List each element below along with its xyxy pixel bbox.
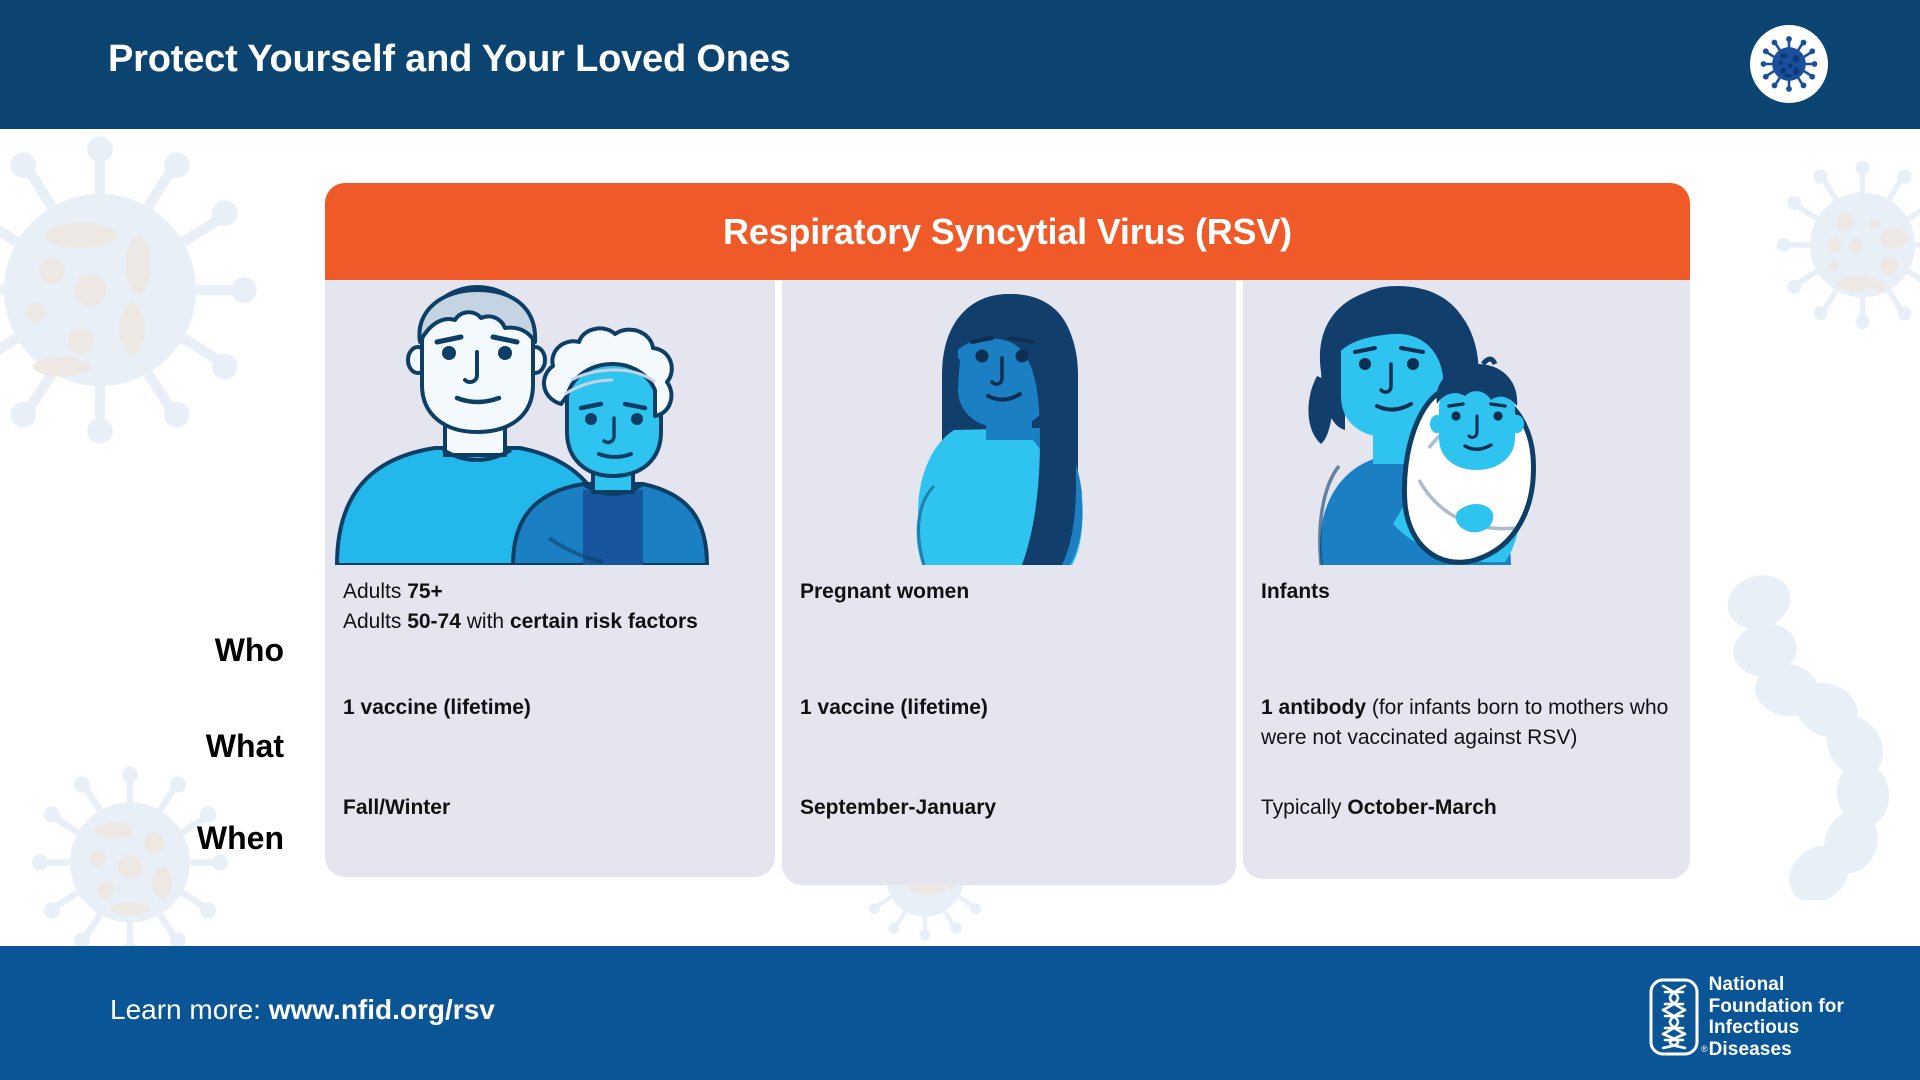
virus-watermark-icon xyxy=(1775,155,1920,335)
who-line-1: Pregnant women xyxy=(800,577,1218,607)
cell-what: 1 vaccine (lifetime) xyxy=(343,663,757,759)
column-pregnant-women: Pregnant women 1 vaccine (lifetime) Sept… xyxy=(782,280,1236,885)
cell-who: Adults 75+ Adults 50-74 with certain ris… xyxy=(343,565,757,663)
column-infants: Infants 1 antibody (for infants born to … xyxy=(1243,280,1690,879)
column-older-adults: Adults 75+ Adults 50-74 with certain ris… xyxy=(325,280,775,877)
older-couple-illustration xyxy=(325,280,775,565)
when-strong: September-January xyxy=(800,796,996,819)
when-strong: Fall/Winter xyxy=(343,796,450,819)
who-line-1: Infants xyxy=(1261,577,1672,607)
card-title: Respiratory Syncytial Virus (RSV) xyxy=(723,211,1292,253)
who-strong: Infants xyxy=(1261,580,1330,603)
pregnant-woman-illustration xyxy=(782,280,1236,565)
when-text: Typically October-March xyxy=(1261,793,1672,823)
column-2-rows: Pregnant women 1 vaccine (lifetime) Sept… xyxy=(782,565,1236,885)
nfid-logo: ® National Foundation for Infectious Dis… xyxy=(1649,974,1844,1061)
who-line2-strong: 50-74 xyxy=(407,610,461,633)
nfid-line-1: National xyxy=(1709,974,1844,996)
cell-when: Typically October-March xyxy=(1261,759,1672,855)
bacteria-chain-icon xyxy=(1715,570,1915,900)
virus-watermark-icon xyxy=(30,760,230,965)
cell-who: Infants xyxy=(1261,565,1672,663)
nfid-line-3: Infectious xyxy=(1709,1017,1844,1039)
when-text: September-January xyxy=(800,793,1218,823)
header-virus-logo xyxy=(1750,25,1828,103)
when-prefix: Typically xyxy=(1261,796,1347,819)
who-line-2: Adults 50-74 with certain risk factors xyxy=(343,607,757,637)
column-3-rows: Infants 1 antibody (for infants born to … xyxy=(1243,565,1690,879)
who-strong: Pregnant women xyxy=(800,580,969,603)
row-label-what: What xyxy=(206,728,284,765)
what-text: 1 vaccine (lifetime) xyxy=(343,693,757,723)
column-1-rows: Adults 75+ Adults 50-74 with certain ris… xyxy=(325,565,775,877)
who-strong: 75+ xyxy=(407,580,443,603)
dna-helix-icon: ® xyxy=(1649,978,1699,1056)
who-line-1: Adults 75+ xyxy=(343,577,757,607)
card-header-bar: Respiratory Syncytial Virus (RSV) xyxy=(325,183,1690,280)
row-label-who: Who xyxy=(215,632,284,669)
when-text: Fall/Winter xyxy=(343,793,757,823)
cell-who: Pregnant women xyxy=(800,565,1218,663)
who-line2-mid: with xyxy=(461,610,510,633)
virus-icon xyxy=(1760,35,1818,93)
nfid-line-2: Foundation for xyxy=(1709,996,1844,1018)
who-prefix: Adults xyxy=(343,580,407,603)
nfid-logo-text: National Foundation for Infectious Disea… xyxy=(1709,974,1844,1061)
mother-and-infant-illustration xyxy=(1243,280,1690,565)
rsv-card: Respiratory Syncytial Virus (RSV) xyxy=(325,183,1690,885)
card-columns: Adults 75+ Adults 50-74 with certain ris… xyxy=(325,280,1690,885)
page-footer: Learn more: www.nfid.org/rsv xyxy=(0,946,1920,1080)
row-label-when: When xyxy=(197,820,284,857)
who-line2-prefix: Adults xyxy=(343,610,407,633)
cell-when: September-January xyxy=(800,759,1218,855)
page-title: Protect Yourself and Your Loved Ones xyxy=(108,38,791,81)
cell-when: Fall/Winter xyxy=(343,759,757,855)
what-text: 1 vaccine (lifetime) xyxy=(800,693,1218,723)
learn-more-text: Learn more: www.nfid.org/rsv xyxy=(110,994,495,1026)
when-strong: October-March xyxy=(1347,796,1496,819)
who-line2-strong2: certain risk factors xyxy=(510,610,698,633)
what-strong: 1 vaccine (lifetime) xyxy=(343,696,531,719)
cell-what: 1 antibody (for infants born to mothers … xyxy=(1261,663,1672,759)
nfid-url-link[interactable]: www.nfid.org/rsv xyxy=(269,994,495,1025)
what-strong: 1 vaccine (lifetime) xyxy=(800,696,988,719)
registered-trademark-symbol: ® xyxy=(1701,1044,1708,1054)
what-text: 1 antibody (for infants born to mothers … xyxy=(1261,693,1672,753)
virus-watermark-icon xyxy=(0,125,260,455)
what-strong: 1 antibody xyxy=(1261,696,1366,719)
page-header: Protect Yourself and Your Loved Ones xyxy=(0,0,1920,129)
nfid-line-4: Diseases xyxy=(1709,1039,1844,1061)
learn-more-label: Learn more: xyxy=(110,994,269,1025)
cell-what: 1 vaccine (lifetime) xyxy=(800,663,1218,759)
